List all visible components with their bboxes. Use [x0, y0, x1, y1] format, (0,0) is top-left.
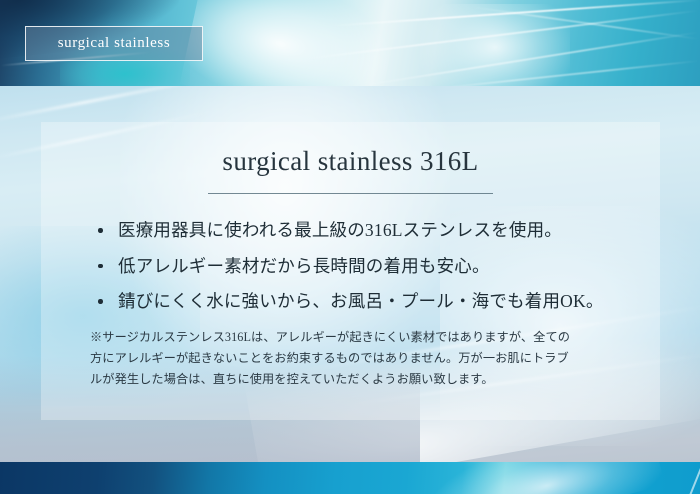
card-title: surgical stainless 316L: [41, 146, 660, 177]
list-item: 低アレルギー素材だから長時間の着用も安心。: [88, 255, 628, 279]
list-item-label: 低アレルギー素材だから長時間の着用も安心。: [118, 256, 490, 276]
category-label-chip: surgical stainless: [25, 26, 203, 61]
disclaimer-line: ※サージカルステンレス316Lは、アレルギーが起きにくい素材ではありますが、全て…: [90, 327, 625, 348]
list-item: 医療用器具に使われる最上級の316Lステンレスを使用。: [88, 219, 628, 243]
footer-light-streak: [688, 467, 700, 494]
footer-light-glow: [425, 462, 665, 494]
bullet-dot-icon: [98, 228, 103, 233]
list-item-label: 医療用器具に使われる最上級の316Lステンレスを使用。: [118, 220, 562, 240]
list-item: 錆びにくく水に強いから、お風呂・プール・海でも着用OK。: [88, 290, 628, 314]
footer-color-band: [0, 462, 700, 494]
banner-light-reflection: [180, 0, 401, 86]
feature-list: 医療用器具に使われる最上級の316Lステンレスを使用。 低アレルギー素材だから長…: [88, 219, 628, 314]
category-label-text: surgical stainless: [58, 35, 171, 52]
disclaimer-line: 方にアレルギーが起きないことをお約束するものではありません。万が一お肌にトラブ: [90, 348, 625, 369]
disclaimer-note: ※サージカルステンレス316Lは、アレルギーが起きにくい素材ではありますが、全て…: [90, 327, 625, 390]
disclaimer-line: ルが発生した場合は、直ちに使用を控えていただくようお願い致します。: [90, 369, 625, 390]
title-divider: [208, 193, 493, 194]
bullet-dot-icon: [98, 264, 103, 269]
list-item-label: 錆びにくく水に強いから、お風呂・プール・海でも着用OK。: [118, 291, 604, 311]
product-material-banner: surgical stainless surgical stainless 31…: [0, 0, 700, 494]
content-card: surgical stainless 316L 医療用器具に使われる最上級の31…: [41, 122, 660, 420]
bullet-dot-icon: [98, 299, 103, 304]
